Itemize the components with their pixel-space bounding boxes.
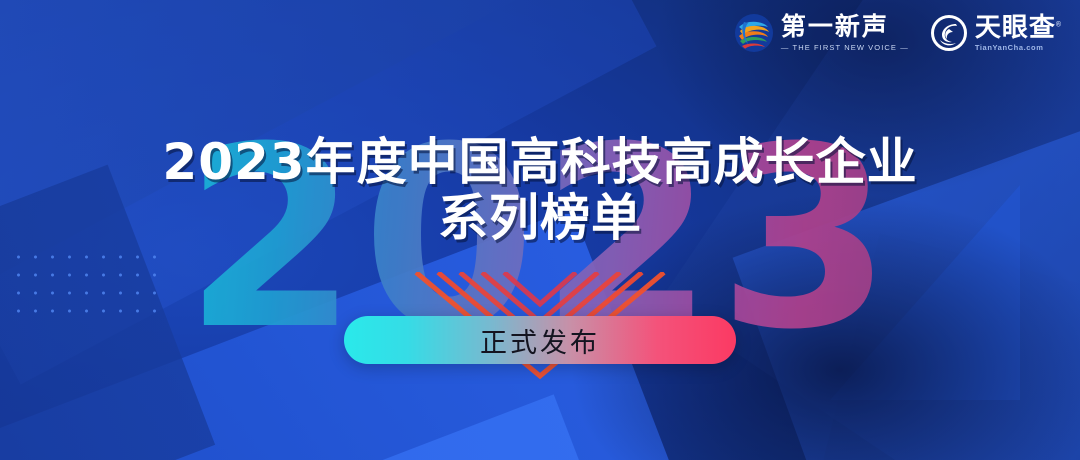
logo-first-new-voice-cn: 第一新声 [781, 15, 909, 40]
page-title: 2023年度中国高科技高成长企业 系列榜单 [0, 134, 1080, 246]
dot-grid-decoration [10, 248, 160, 322]
logo-first-new-voice[interactable]: 第一新声 — THE FIRST NEW VOICE — [735, 14, 909, 52]
title-line-1: 2023年度中国高科技高成长企业 [0, 134, 1080, 190]
release-status-label: 正式发布 [480, 321, 600, 360]
registered-mark-icon: ® [1056, 22, 1062, 29]
release-status-badge[interactable]: 正式发布 [344, 316, 736, 364]
logo-tianyancha-cn: 天眼查® [975, 14, 1062, 40]
logo-tianyancha[interactable]: 天眼查® TianYanCha.com [931, 14, 1062, 52]
title-line-2: 系列榜单 [0, 190, 1080, 246]
swoosh-globe-icon [735, 14, 773, 52]
aperture-eye-icon [931, 15, 967, 51]
logo-tianyancha-domain: TianYanCha.com [975, 44, 1062, 52]
promo-banner: 2023 [0, 0, 1080, 460]
logo-bar: 第一新声 — THE FIRST NEW VOICE — 天眼查® TianYa… [735, 14, 1062, 52]
logo-first-new-voice-tagline: — THE FIRST NEW VOICE — [781, 44, 909, 52]
logo-first-new-voice-text: 第一新声 — THE FIRST NEW VOICE — [781, 15, 909, 52]
logo-tianyancha-text: 天眼查® TianYanCha.com [975, 14, 1062, 52]
